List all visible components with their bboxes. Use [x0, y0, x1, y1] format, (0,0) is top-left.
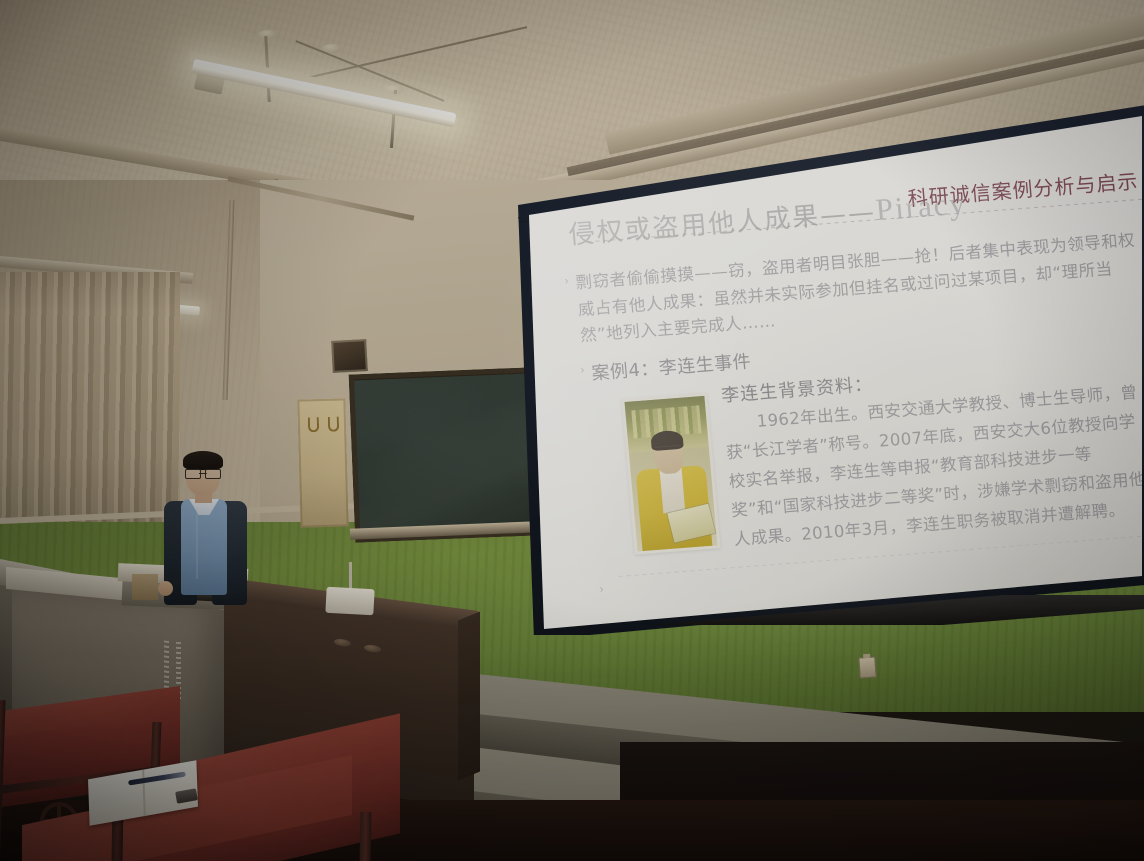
wall-mounted-box: [331, 339, 368, 373]
hook-board: [297, 398, 348, 527]
desk-leg: [360, 812, 372, 861]
glasses-lens-left: [185, 469, 201, 479]
presenter: [158, 455, 250, 605]
presenter-hand: [158, 581, 173, 596]
projection-screen[interactable]: 科研诚信案例分析与启示 侵权或盗用他人成果——Piracy › 剽窃者偷偷摸摸—…: [494, 105, 1144, 650]
notebook-spine: [142, 770, 145, 817]
drawer-knob[interactable]: [334, 638, 351, 647]
glasses-lens-right: [205, 469, 221, 479]
projector-stand: [349, 562, 352, 590]
presenter-zipper: [196, 507, 198, 579]
glasses-icon: [185, 469, 221, 477]
presenter-hair: [183, 451, 223, 470]
screen-surface: 科研诚信案例分析与启示 侵权或盗用他人成果——Piracy › 剽窃者偷偷摸摸—…: [494, 105, 1144, 635]
screen-glare: [494, 105, 1144, 635]
teacher-desk-side: [458, 612, 480, 781]
coat-hook: [308, 417, 319, 432]
drawer-knob[interactable]: [364, 644, 381, 653]
projector-unit: [325, 587, 374, 615]
coat-hook: [328, 417, 339, 432]
ceiling-mount: [322, 44, 342, 53]
lecture-hall-photo: 科研诚信案例分析与启示 侵权或盗用他人成果——Piracy › 剽窃者偷偷摸摸—…: [0, 0, 1144, 861]
wooden-stool: [132, 574, 158, 600]
ceiling-mount: [258, 30, 278, 39]
